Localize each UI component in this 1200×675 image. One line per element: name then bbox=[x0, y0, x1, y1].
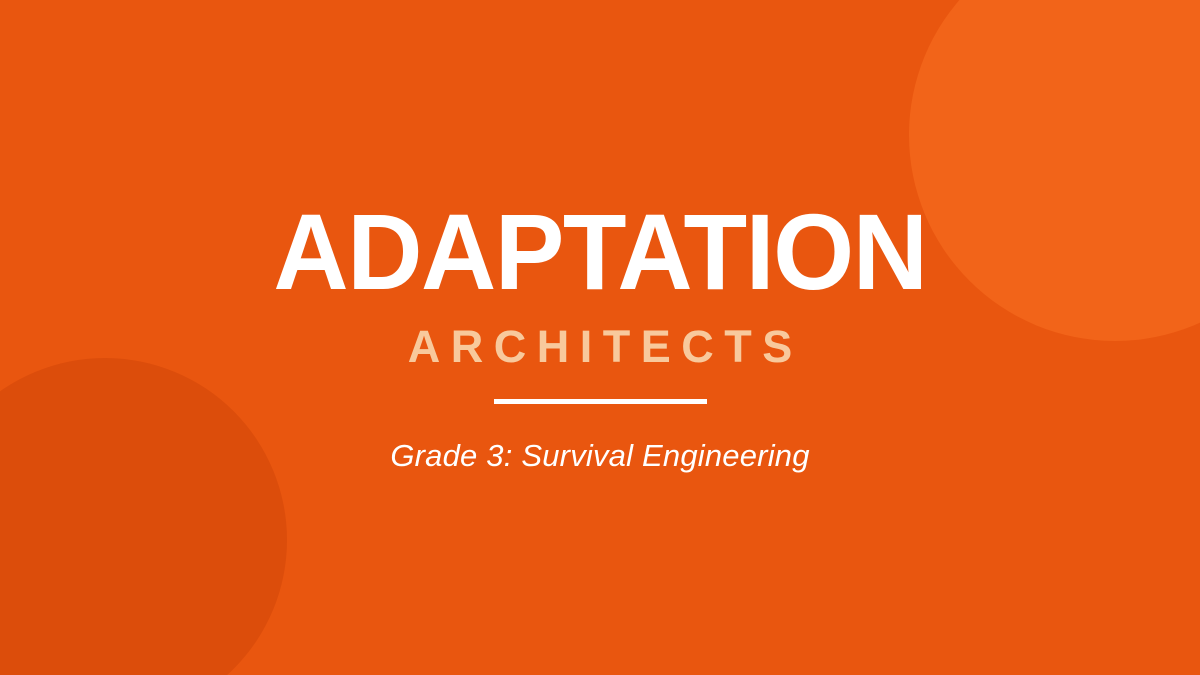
title-slide: ADAPTATION ARCHITECTS Grade 3: Survival … bbox=[0, 0, 1200, 675]
slide-tagline: Grade 3: Survival Engineering bbox=[0, 439, 1200, 473]
slide-content: ADAPTATION ARCHITECTS Grade 3: Survival … bbox=[0, 0, 1200, 675]
title-divider bbox=[494, 399, 707, 404]
page-subtitle: ARCHITECTS bbox=[0, 324, 1200, 369]
page-title: ADAPTATION bbox=[21, 198, 1179, 306]
